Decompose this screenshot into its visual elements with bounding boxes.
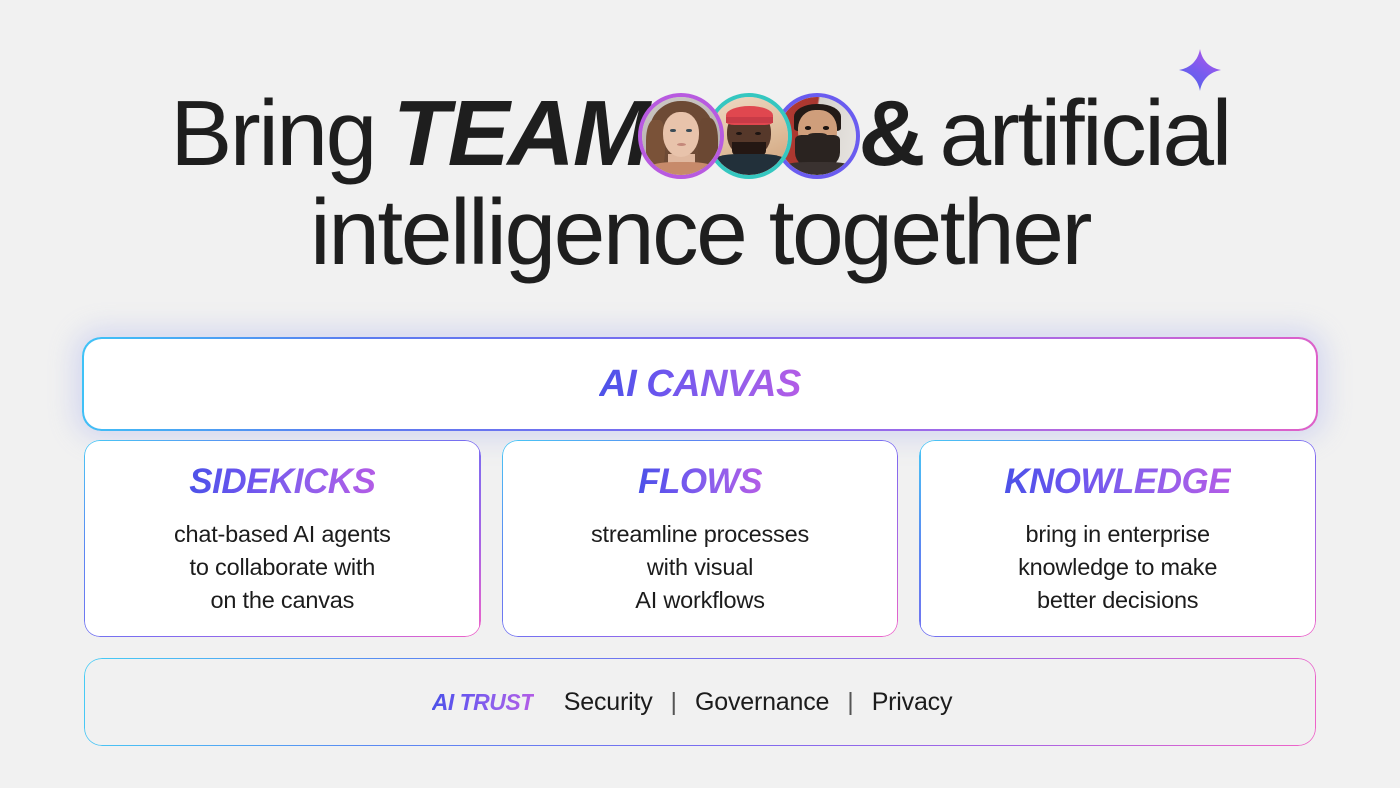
feature-card-sidekicks-description: chat-based AI agents to collaborate with… <box>84 518 481 617</box>
ai-canvas-card[interactable]: AI CANVAS <box>84 339 1316 429</box>
feature-card-knowledge-description: bring in enterprise knowledge to make be… <box>919 518 1316 617</box>
feature-card-knowledge-title: KNOWLEDGE <box>1004 462 1231 502</box>
avatar-person-1-image <box>642 97 720 175</box>
headline-line-2-text: intelligence together <box>310 187 1090 278</box>
headline-word-team: TEAM <box>393 88 648 179</box>
feature-card-flows[interactable]: FLOWS streamline processes with visual A… <box>502 440 899 637</box>
hero-graphic: Bring TEAM <box>0 0 1400 788</box>
feature-card-sidekicks[interactable]: SIDEKICKS chat-based AI agents to collab… <box>84 440 481 637</box>
ai-trust-content: AI TRUST Security | Governance | Privacy <box>432 688 969 717</box>
feature-card-knowledge[interactable]: KNOWLEDGE bring in enterprise knowledge … <box>919 440 1316 637</box>
ai-trust-title: AI TRUST <box>432 689 534 716</box>
avatar-person-1[interactable] <box>638 93 724 179</box>
headline-word-artificial: artificial <box>940 88 1230 179</box>
headline: Bring TEAM <box>0 88 1400 278</box>
headline-line-2: intelligence together <box>0 187 1400 278</box>
feature-card-flows-description: streamline processes with visual AI work… <box>502 518 899 617</box>
trust-separator-1: | <box>669 688 680 717</box>
headline-line-1: Bring TEAM <box>0 88 1400 179</box>
feature-card-sidekicks-title: SIDEKICKS <box>189 462 375 502</box>
avatar-group <box>638 93 860 179</box>
trust-separator-2: | <box>845 688 856 717</box>
feature-cards-row: SIDEKICKS chat-based AI agents to collab… <box>84 440 1316 637</box>
headline-word-ampersand: & <box>858 88 923 179</box>
feature-card-flows-title: FLOWS <box>638 462 762 502</box>
ai-trust-bar[interactable]: AI TRUST Security | Governance | Privacy <box>84 658 1316 746</box>
headline-artificial-text: artificial <box>940 81 1230 185</box>
headline-word-bring: Bring <box>170 88 375 179</box>
trust-item-security[interactable]: Security <box>548 688 669 717</box>
ai-canvas-title: AI CANVAS <box>599 363 801 406</box>
trust-item-governance[interactable]: Governance <box>679 688 845 717</box>
trust-item-privacy[interactable]: Privacy <box>856 688 969 717</box>
